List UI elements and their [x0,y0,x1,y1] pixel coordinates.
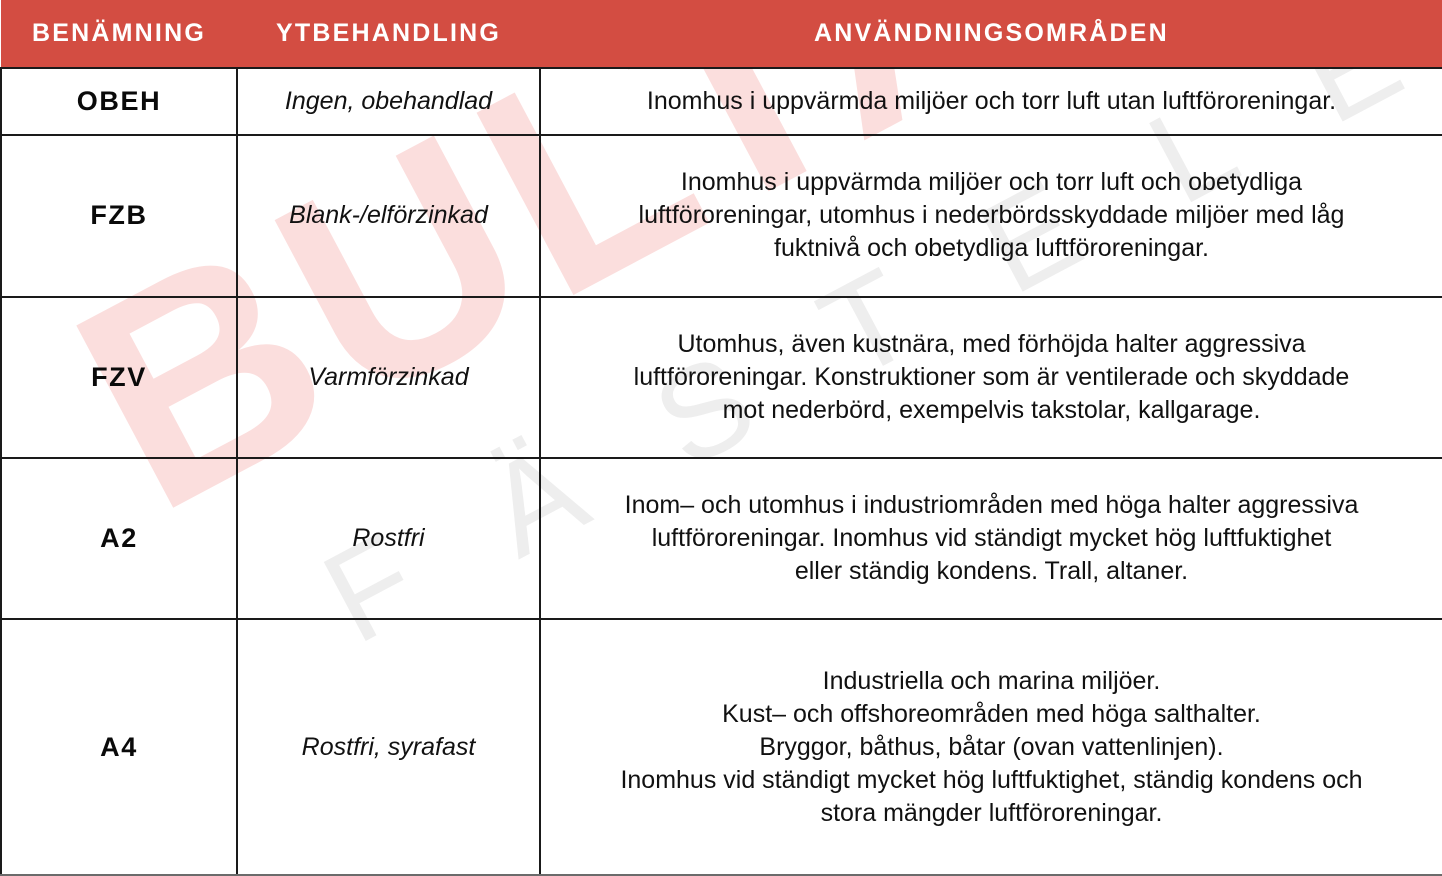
usage-line: Kust– och offshoreområden med höga salth… [551,698,1432,731]
usage-line: stora mängder luftföroreningar. [551,797,1432,830]
table-row: A4 Rostfri, syrafast Industriella och ma… [1,619,1442,875]
table-header: BENÄMNING YTBEHANDLING ANVÄNDNINGSOMRÅDE… [1,0,1442,68]
cell-anvandningsomraden: Inomhus i uppvärmda miljöer och torr luf… [540,135,1442,296]
cell-ytbehandling: Ingen, obehandlad [237,68,540,135]
cell-ytbehandling: Rostfri, syrafast [237,619,540,875]
page-root: BULTAB F Ä S T E L E M E N T BENÄMNING Y… [0,0,1442,876]
usage-line: mot nederbörd, exempelvis takstolar, kal… [551,394,1432,427]
cell-benamning: FZV [1,297,237,458]
column-header-benamning: BENÄMNING [1,0,237,68]
cell-benamning: A2 [1,458,237,619]
usage-line: luftföroreningar. Inomhus vid ständigt m… [551,522,1432,555]
usage-line: fuktnivå och obetydliga luftföroreningar… [551,232,1432,265]
table-row: FZB Blank-/elförzinkad Inomhus i uppvärm… [1,135,1442,296]
column-header-ytbehandling: YTBEHANDLING [237,0,540,68]
usage-line: Industriella och marina miljöer. [551,665,1432,698]
cell-benamning: OBEH [1,68,237,135]
surface-treatment-table: BENÄMNING YTBEHANDLING ANVÄNDNINGSOMRÅDE… [0,0,1442,876]
table-row: OBEH Ingen, obehandlad Inomhus i uppvärm… [1,68,1442,135]
usage-line: luftföroreningar, utomhus i nederbördssk… [551,199,1432,232]
usage-line: Inom– och utomhus i industriområden med … [551,489,1432,522]
table-body: OBEH Ingen, obehandlad Inomhus i uppvärm… [1,68,1442,875]
cell-anvandningsomraden: Inomhus i uppvärmda miljöer och torr luf… [540,68,1442,135]
cell-anvandningsomraden: Inom– och utomhus i industriområden med … [540,458,1442,619]
cell-benamning: A4 [1,619,237,875]
cell-ytbehandling: Blank-/elförzinkad [237,135,540,296]
table-row: FZV Varmförzinkad Utomhus, även kustnära… [1,297,1442,458]
cell-ytbehandling: Rostfri [237,458,540,619]
cell-benamning: FZB [1,135,237,296]
cell-ytbehandling: Varmförzinkad [237,297,540,458]
table-header-row: BENÄMNING YTBEHANDLING ANVÄNDNINGSOMRÅDE… [1,0,1442,68]
surface-treatment-table-container: BENÄMNING YTBEHANDLING ANVÄNDNINGSOMRÅDE… [0,0,1442,876]
cell-anvandningsomraden: Industriella och marina miljöer. Kust– o… [540,619,1442,875]
usage-line: Inomhus i uppvärmda miljöer och torr luf… [551,85,1432,118]
usage-line: Inomhus i uppvärmda miljöer och torr luf… [551,166,1432,199]
table-row: A2 Rostfri Inom– och utomhus i industrio… [1,458,1442,619]
cell-anvandningsomraden: Utomhus, även kustnära, med förhöjda hal… [540,297,1442,458]
usage-line: eller ständig kondens. Trall, altaner. [551,555,1432,588]
usage-line: luftföroreningar. Konstruktioner som är … [551,361,1432,394]
column-header-anvandningsomraden: ANVÄNDNINGSOMRÅDEN [540,0,1442,68]
usage-line: Inomhus vid ständigt mycket hög luftfukt… [551,764,1432,797]
usage-line: Bryggor, båthus, båtar (ovan vattenlinje… [551,731,1432,764]
usage-line: Utomhus, även kustnära, med förhöjda hal… [551,328,1432,361]
